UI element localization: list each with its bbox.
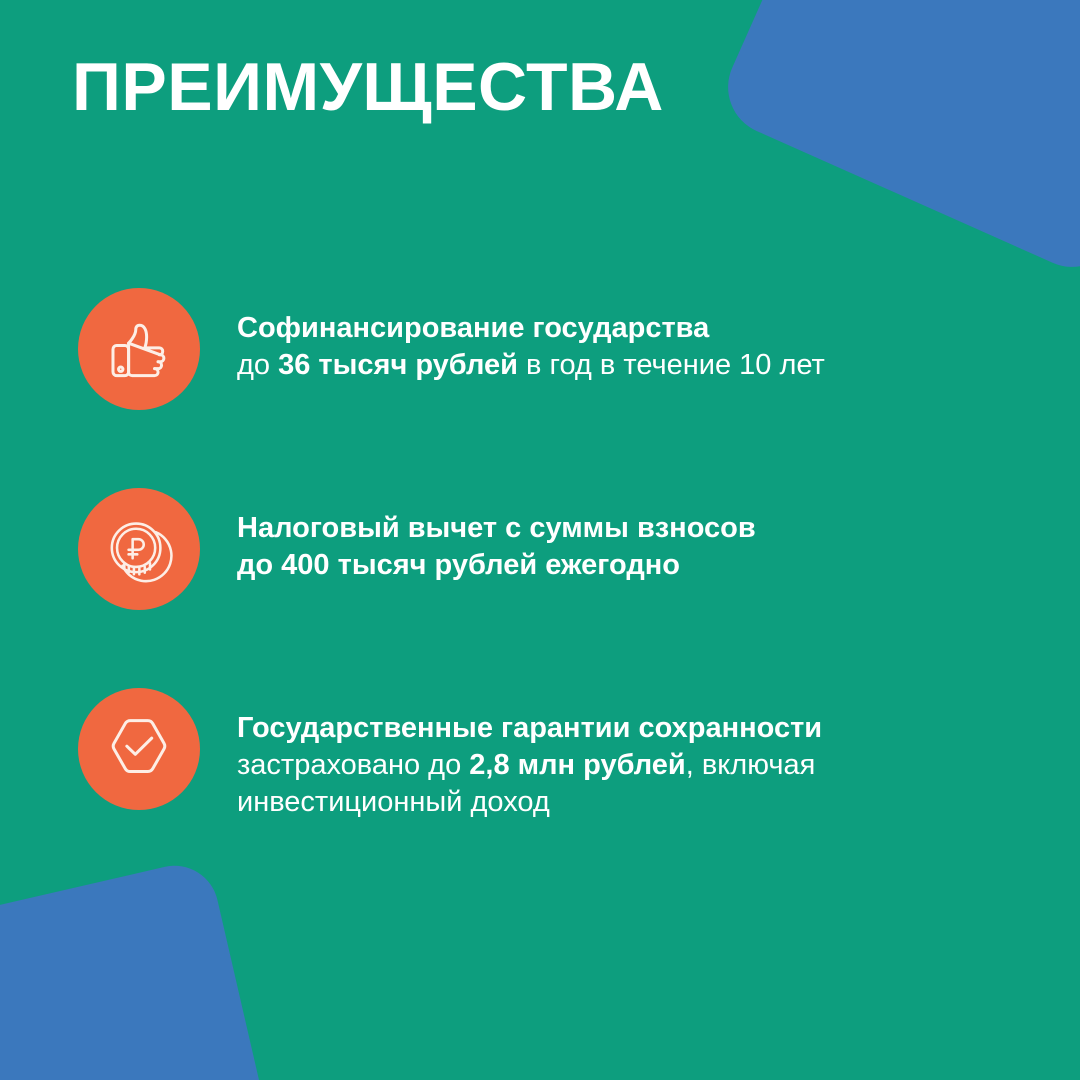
benefit-title: Налоговый вычет с суммы взносов: [237, 510, 756, 547]
benefit-detail-strong: до 400 тысяч рублей ежегодно: [237, 549, 680, 581]
benefit-detail-strong: 2,8 млн рублей: [469, 749, 685, 781]
page-title: ПРЕИМУЩЕСТВА: [72, 52, 664, 123]
poster-canvas: ПРЕИМУЩЕСТВА Софинансирование государств…: [0, 0, 1080, 1080]
benefit-detail: до 36 тысяч рублей в год в течение 10 ле…: [237, 347, 825, 384]
benefit-text: Государственные гарантии сохранности зас…: [200, 688, 897, 821]
benefit-icon-circle: [78, 688, 200, 810]
benefit-detail: застраховано до 2,8 млн рублей, включая …: [237, 747, 897, 821]
benefits-list: Софинансирование государства до 36 тысяч…: [78, 288, 1018, 821]
thumbs-up-icon: [102, 312, 176, 386]
benefit-item: Софинансирование государства до 36 тысяч…: [78, 288, 1018, 410]
benefit-title: Софинансирование государства: [237, 310, 825, 347]
benefit-text: Софинансирование государства до 36 тысяч…: [200, 288, 825, 384]
benefit-icon-circle: [78, 288, 200, 410]
benefit-item: Государственные гарантии сохранности зас…: [78, 688, 1018, 821]
benefit-detail-prefix: до: [237, 349, 278, 381]
decorative-shape-bottom-left: [0, 857, 282, 1080]
benefit-detail-suffix: в год в течение 10 лет: [518, 349, 825, 381]
decorative-shape-top-right: [713, 0, 1080, 282]
benefit-icon-circle: [78, 488, 200, 610]
benefit-title: Государственные гарантии сохранности: [237, 710, 897, 747]
hexagon-check-icon: [102, 712, 176, 786]
benefit-detail-prefix: застраховано до: [237, 749, 469, 781]
benefit-detail: до 400 тысяч рублей ежегодно: [237, 547, 756, 584]
benefit-detail-strong: 36 тысяч рублей: [278, 349, 518, 381]
benefit-item: Налоговый вычет с суммы взносов до 400 т…: [78, 488, 1018, 610]
benefit-text: Налоговый вычет с суммы взносов до 400 т…: [200, 488, 756, 584]
ruble-coin-icon: [102, 512, 176, 586]
